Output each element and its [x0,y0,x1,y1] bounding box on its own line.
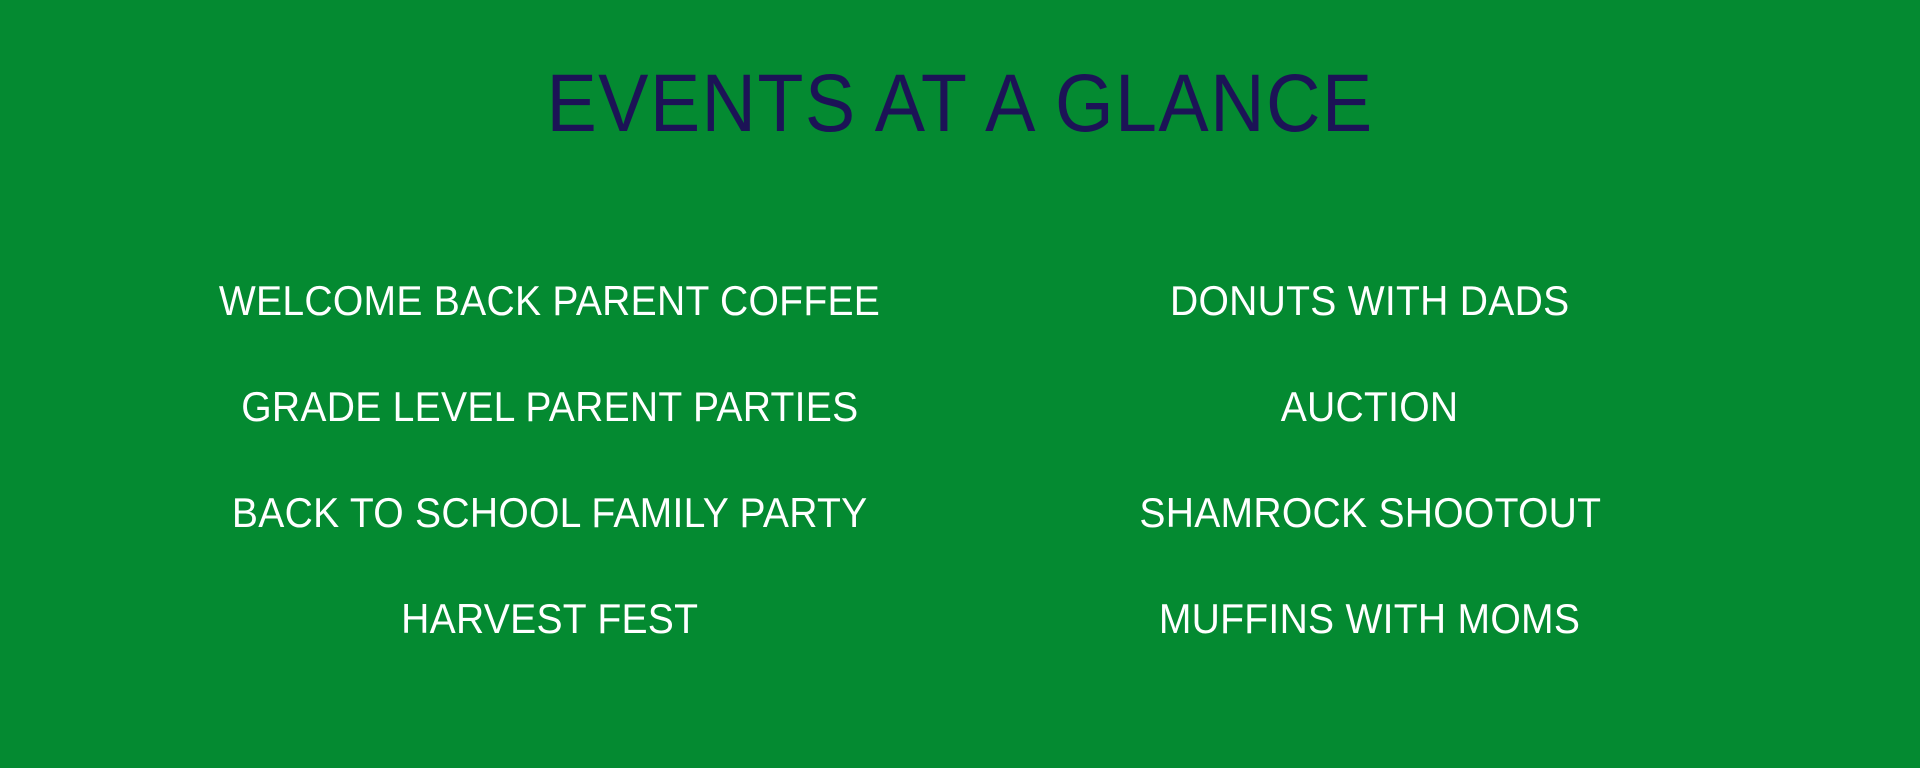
event-item-harvest-fest: HARVEST FEST [140,566,960,672]
event-item-shamrock-shootout: SHAMROCK SHOOTOUT [960,460,1780,566]
event-item-back-to-school-family-party: BACK TO SCHOOL FAMILY PARTY [140,460,960,566]
event-item-grade-level-parent-parties: GRADE LEVEL PARENT PARTIES [140,354,960,460]
events-at-a-glance-slide: EVENTS AT A GLANCE WELCOME BACK PARENT C… [0,0,1920,768]
event-label: WELCOME BACK PARENT COFFEE [219,278,880,324]
event-label: BACK TO SCHOOL FAMILY PARTY [232,490,868,536]
events-grid: WELCOME BACK PARENT COFFEE DONUTS WITH D… [0,248,1920,672]
event-label: SHAMROCK SHOOTOUT [1139,490,1601,536]
event-item-welcome-back-parent-coffee: WELCOME BACK PARENT COFFEE [140,248,960,354]
event-label: HARVEST FEST [401,596,698,642]
event-label: GRADE LEVEL PARENT PARTIES [241,384,858,430]
page-title: EVENTS AT A GLANCE [77,58,1843,150]
event-label: MUFFINS WITH MOMS [1159,596,1580,642]
event-item-donuts-with-dads: DONUTS WITH DADS [960,248,1780,354]
event-item-auction: AUCTION [960,354,1780,460]
event-label: AUCTION [1281,384,1459,430]
event-label: DONUTS WITH DADS [1170,278,1569,324]
event-item-muffins-with-moms: MUFFINS WITH MOMS [960,566,1780,672]
